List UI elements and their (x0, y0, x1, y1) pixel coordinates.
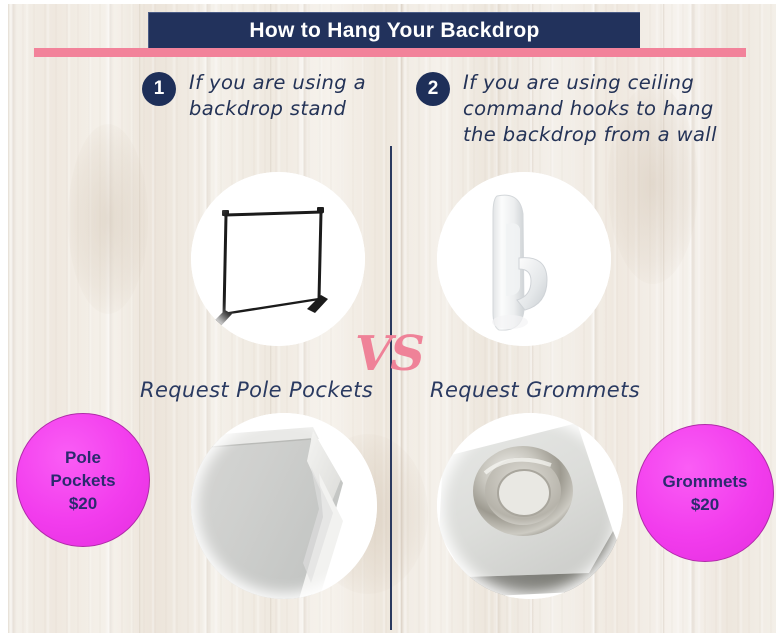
price-badge-grommets[interactable]: Grommets $20 (636, 424, 774, 562)
circle-vignette (437, 172, 611, 346)
circle-vignette (437, 413, 623, 599)
right-product-label: Request Grommets (430, 378, 640, 402)
circle-vignette (191, 172, 365, 346)
step-1: 1 If you are using a backdrop stand (142, 70, 382, 122)
pole-pocket-fabric-photo (191, 413, 377, 599)
step-2-text: If you are using ceiling command hooks t… (463, 70, 717, 148)
step-1-line-2: backdrop stand (189, 96, 366, 122)
vs-label: VS (355, 330, 423, 378)
step-1-text: If you are using a backdrop stand (189, 70, 366, 122)
badge-line-1: Pole (65, 446, 101, 469)
step-2-line-1: If you are using ceiling (463, 70, 717, 96)
price-badge-pole-pockets[interactable]: Pole Pockets $20 (16, 413, 150, 547)
left-product-label: Request Pole Pockets (140, 378, 373, 402)
step-2-number-badge: 2 (416, 72, 450, 106)
badge-line-2: Pockets (50, 469, 115, 492)
step-2-line-3: the backdrop from a wall (463, 122, 717, 148)
title-bar: How to Hang Your Backdrop (148, 12, 640, 48)
wood-knot (68, 124, 148, 314)
step-2-line-2: command hooks to hang (463, 96, 717, 122)
grommet-fabric-photo (437, 413, 623, 599)
badge-line-1: Grommets (662, 470, 747, 493)
step-1-number-badge: 1 (142, 72, 176, 106)
vertical-divider (390, 146, 392, 630)
circle-vignette (191, 413, 377, 599)
page-title: How to Hang Your Backdrop (249, 19, 539, 43)
command-hook-photo (437, 172, 611, 346)
step-2: 2 If you are using ceiling command hooks… (416, 70, 736, 148)
backdrop-stand-photo (191, 172, 365, 346)
badge-price: $20 (691, 493, 719, 516)
badge-price: $20 (69, 492, 97, 515)
accent-stripe (34, 48, 746, 57)
infographic-canvas: How to Hang Your Backdrop 1 If you are u… (0, 0, 784, 637)
step-1-line-1: If you are using a (189, 70, 366, 96)
